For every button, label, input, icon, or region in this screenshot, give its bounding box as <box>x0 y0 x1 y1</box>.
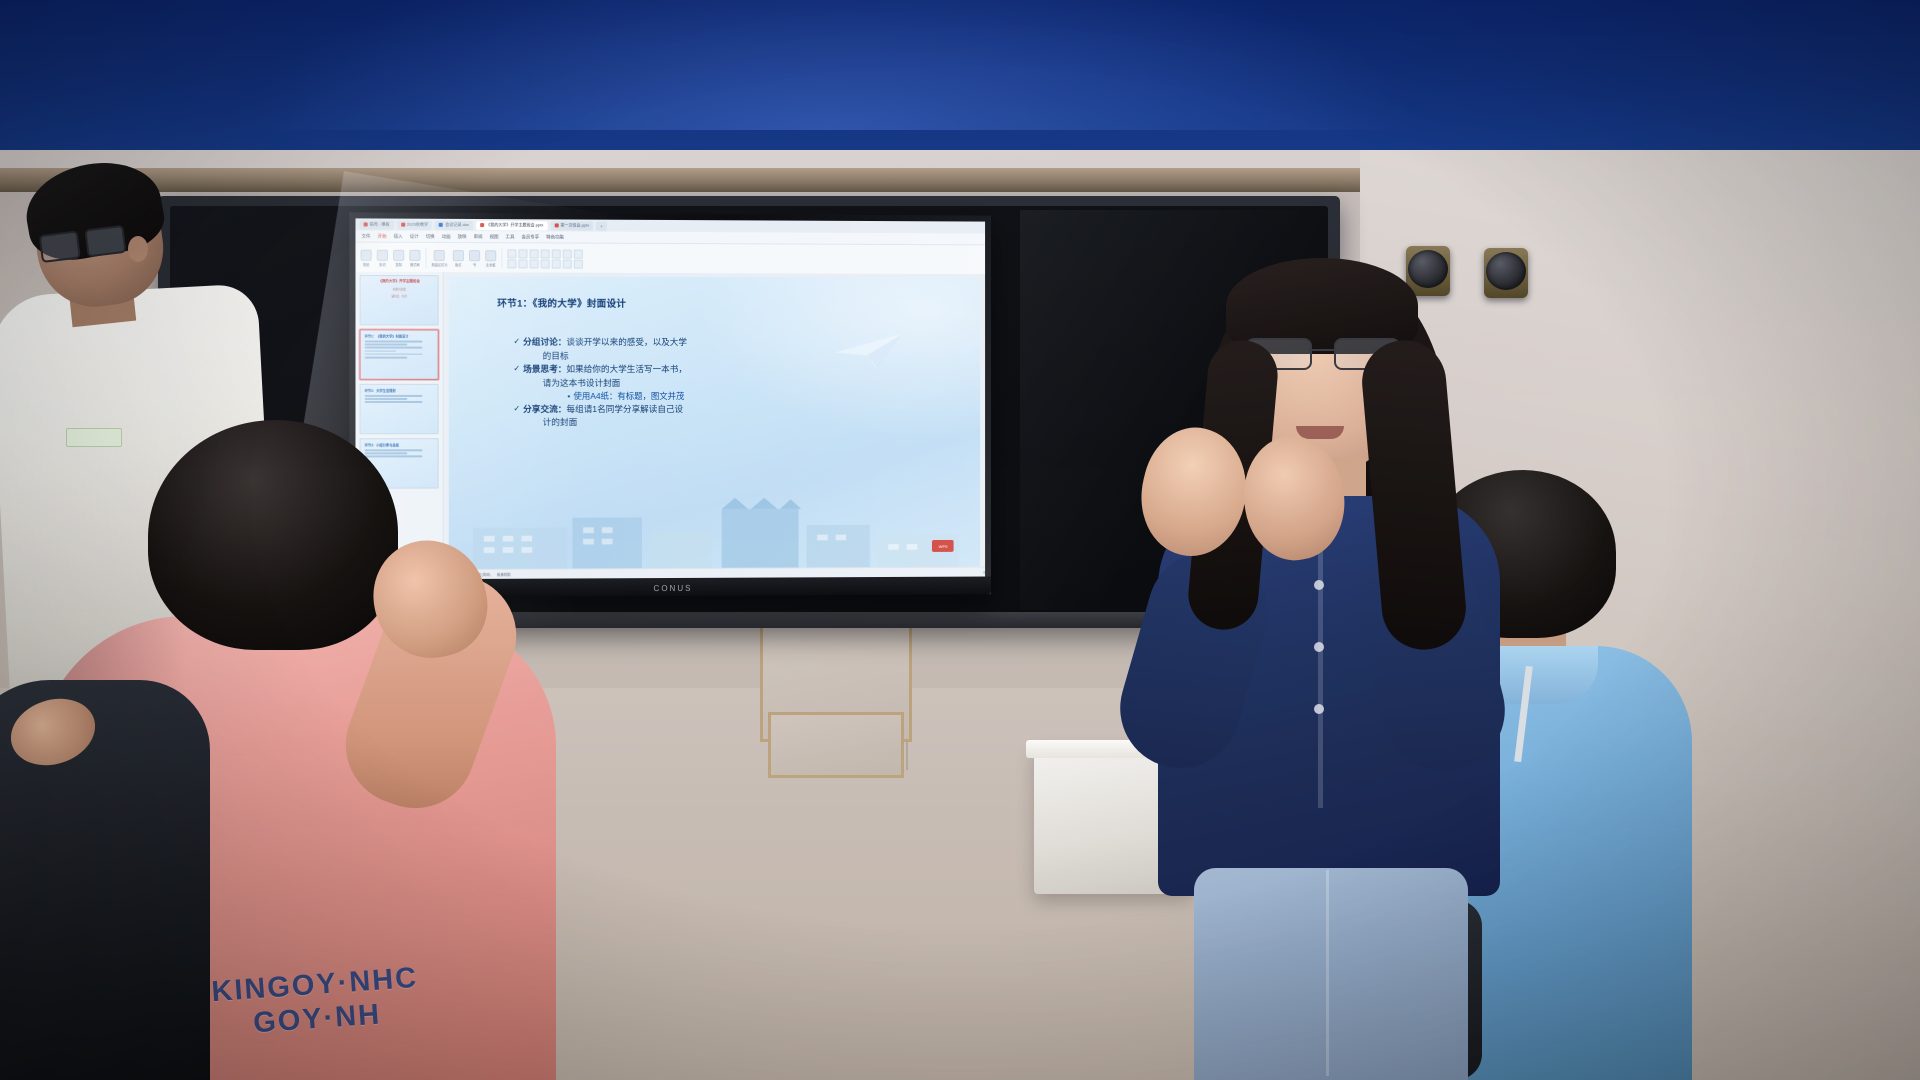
ribbon-button-section[interactable]: 节 <box>469 250 480 267</box>
strikethrough-icon[interactable] <box>541 249 550 258</box>
ribbon-label: 节 <box>473 262 476 267</box>
ribbon-label: 文本框 <box>486 262 496 267</box>
zoom-level[interactable]: 68% <box>983 570 985 574</box>
teacher-jeans <box>1194 868 1468 1080</box>
wps-badge: WPS <box>932 540 954 552</box>
slide-thumbnail[interactable]: 《我的大学》开学主题班会 主题小班会 辅导员 · 九月 <box>360 275 439 326</box>
underline-icon[interactable] <box>529 249 538 258</box>
classroom-photo: 稻壳 · 模板 2025秋教学 会议记录.doc 《我的大学》开学主题班会.pp… <box>0 0 1920 1080</box>
thumbnail-subtitle: 主题小班会 <box>365 287 434 291</box>
align-right-icon[interactable] <box>529 259 538 268</box>
display-brand-logo: CONUS <box>654 584 693 593</box>
sub-bullet-text: 使用A4纸：有标题，图文并茂 <box>573 391 684 401</box>
menu-item-file[interactable]: 文件 <box>362 233 371 239</box>
ribbon-button-copy[interactable]: 复制 <box>393 249 404 266</box>
bullet-text: 谈谈开学以来的感受，以及大学 <box>566 337 687 347</box>
dot-icon: • <box>567 390 570 403</box>
thumbnail-line <box>365 398 408 400</box>
pink-student-hair <box>148 420 398 650</box>
menu-item-animation[interactable]: 动画 <box>442 233 451 239</box>
align-center-icon[interactable] <box>518 259 527 268</box>
ribbon-button-cut[interactable]: 剪切 <box>377 249 388 266</box>
copy-icon <box>393 249 404 260</box>
thumbnail-line <box>365 357 408 359</box>
layout-icon <box>453 250 464 261</box>
tab-label: 稻壳 · 模板 <box>370 221 390 227</box>
menu-item-member[interactable]: 会员专享 <box>521 234 539 240</box>
tab-label: 《我的大学》开学主题班会.pptx <box>486 222 543 228</box>
thumbnail-line <box>365 344 408 346</box>
bullet-continuation: 的目标 <box>513 350 959 363</box>
cut-icon <box>377 249 388 260</box>
section-icon <box>469 250 480 261</box>
bullet-text: 如果给你的大学生活写一本书， <box>566 364 687 374</box>
jeans-seam <box>1326 870 1329 1076</box>
highlight-icon[interactable] <box>574 249 583 258</box>
doc-icon <box>364 222 368 226</box>
align-left-icon[interactable] <box>507 259 516 268</box>
menu-item-insert[interactable]: 插入 <box>394 233 403 239</box>
doc-icon <box>401 223 405 227</box>
font-row-top[interactable] <box>507 249 582 258</box>
blouse-button <box>1314 580 1324 590</box>
number-list-icon[interactable] <box>552 259 561 268</box>
tab-item[interactable]: 第一次班会.pptx <box>550 221 593 230</box>
thumbnail-heading: 环节1：《我的大学》封面设计 <box>365 333 434 338</box>
ribbon-label: 剪切 <box>379 261 385 266</box>
tab-label: 第一次班会.pptx <box>560 222 589 228</box>
font-row-bottom[interactable] <box>507 259 582 268</box>
check-icon: ✓ <box>513 336 520 349</box>
sub-bullet-item: •使用A4纸：有标题，图文并茂 <box>513 390 959 403</box>
thumbnail-line <box>365 347 423 349</box>
bullet-continuation: 请为这本书设计封面 <box>513 377 959 390</box>
ribbon-button-paste[interactable]: 粘贴 <box>361 249 372 266</box>
bullet-label: 分组讨论： <box>523 337 566 347</box>
tab-item[interactable]: 2025秋教学 <box>397 220 432 229</box>
menu-item-transition[interactable]: 切换 <box>426 233 435 239</box>
bullet-label: 分享交流： <box>523 404 566 414</box>
tab-item[interactable]: 会议记录.doc <box>435 220 473 229</box>
menu-item-view[interactable]: 视图 <box>490 234 499 240</box>
ribbon-button-textbox[interactable]: 文本框 <box>485 250 496 267</box>
tab-label: 2025秋教学 <box>407 222 428 228</box>
bullet-label: 场景思考： <box>523 364 566 374</box>
thumbnail-line <box>365 350 397 352</box>
thumbnail-line <box>365 395 423 397</box>
student-left-ear <box>128 236 148 262</box>
check-icon: ✓ <box>513 403 520 416</box>
ribbon-label: 复制 <box>395 261 401 266</box>
thumbnail-line <box>365 340 423 342</box>
tab-item[interactable]: 稻壳 · 模板 <box>360 220 394 229</box>
thumbnail-title: 《我的大学》开学主题班会 <box>365 279 434 284</box>
paste-icon <box>361 249 372 260</box>
ppt-icon <box>480 223 484 227</box>
menu-item-design[interactable]: 设计 <box>410 233 419 239</box>
ribbon-button-layout[interactable]: 版式 <box>453 250 464 267</box>
ribbon-label: 版式 <box>455 262 461 267</box>
ribbon-font-controls[interactable] <box>507 249 582 268</box>
thumbnail-heading: 环节2：大学生活规划 <box>365 388 434 393</box>
indent-icon[interactable] <box>563 259 572 268</box>
foreground-student-dark <box>0 620 210 1080</box>
bullet-text: 每组请1名同学分享解读自己设 <box>566 404 683 414</box>
bullet-item: ✓ 分组讨论：谈谈开学以来的感受，以及大学 <box>513 336 959 350</box>
font-color-icon[interactable] <box>563 249 572 258</box>
ribbon-separator <box>426 248 427 268</box>
format-brush-icon <box>409 249 420 260</box>
menu-item-tools[interactable]: 工具 <box>506 234 515 240</box>
slide-thumbnail-selected[interactable]: 环节1：《我的大学》封面设计 <box>360 329 439 379</box>
bold-icon[interactable] <box>507 249 516 258</box>
tab-label: 会议记录.doc <box>445 222 469 228</box>
bullet-list-icon[interactable] <box>541 259 550 268</box>
doc-blue-icon <box>439 223 443 227</box>
blouse-button <box>1314 642 1324 652</box>
ribbon-label: 格式刷 <box>410 261 420 266</box>
textbox-icon <box>485 250 496 261</box>
ribbon-label: 新建幻灯片 <box>432 262 448 267</box>
ribbon-separator <box>501 248 502 268</box>
ppt-icon <box>554 223 558 227</box>
thumbnail-footer: 辅导员 · 九月 <box>365 294 434 298</box>
blouse-button <box>1314 704 1324 714</box>
menu-item-review[interactable]: 审阅 <box>474 234 483 240</box>
wall-frame-lower <box>768 712 904 778</box>
new-slide-icon <box>434 249 445 260</box>
line-spacing-icon[interactable] <box>574 259 583 268</box>
slide-title: 环节1：《我的大学》封面设计 <box>497 296 626 310</box>
ribbon-button-new-slide[interactable]: 新建幻灯片 <box>432 249 448 266</box>
thumbnail-line <box>365 401 423 403</box>
menu-item-features[interactable]: 特色功能 <box>546 234 564 240</box>
new-tab-button[interactable]: + <box>596 221 606 230</box>
menu-item-slideshow[interactable]: 放映 <box>458 233 467 239</box>
italic-icon[interactable] <box>518 249 527 258</box>
bullet-item: ✓ 分享交流：每组请1名同学分享解读自己设 <box>513 403 959 416</box>
font-size-icon[interactable] <box>552 249 561 258</box>
bullet-continuation: 计的封面 <box>513 416 959 429</box>
teacher <box>1120 250 1540 1080</box>
slide-bullet-list: ✓ 分组讨论：谈谈开学以来的感受，以及大学 的目标 ✓ 场景思考：如果给你的大学… <box>513 336 959 429</box>
check-icon: ✓ <box>513 363 520 376</box>
bullet-item: ✓ 场景思考：如果给你的大学生活写一本书， <box>513 363 959 376</box>
menu-item-home[interactable]: 开始 <box>378 233 387 239</box>
ribbon-toolbar[interactable]: 粘贴 剪切 复制 格式刷 新建幻灯片 版式 节 文本框 <box>355 243 985 277</box>
thumbnail-line <box>365 353 423 355</box>
tab-item-active[interactable]: 《我的大学》开学主题班会.pptx <box>476 221 547 230</box>
ribbon-button-format-brush[interactable]: 格式刷 <box>409 249 420 266</box>
badge-label: WPS <box>939 544 948 549</box>
ribbon-label: 粘贴 <box>363 261 369 266</box>
plus-icon: + <box>600 223 602 228</box>
